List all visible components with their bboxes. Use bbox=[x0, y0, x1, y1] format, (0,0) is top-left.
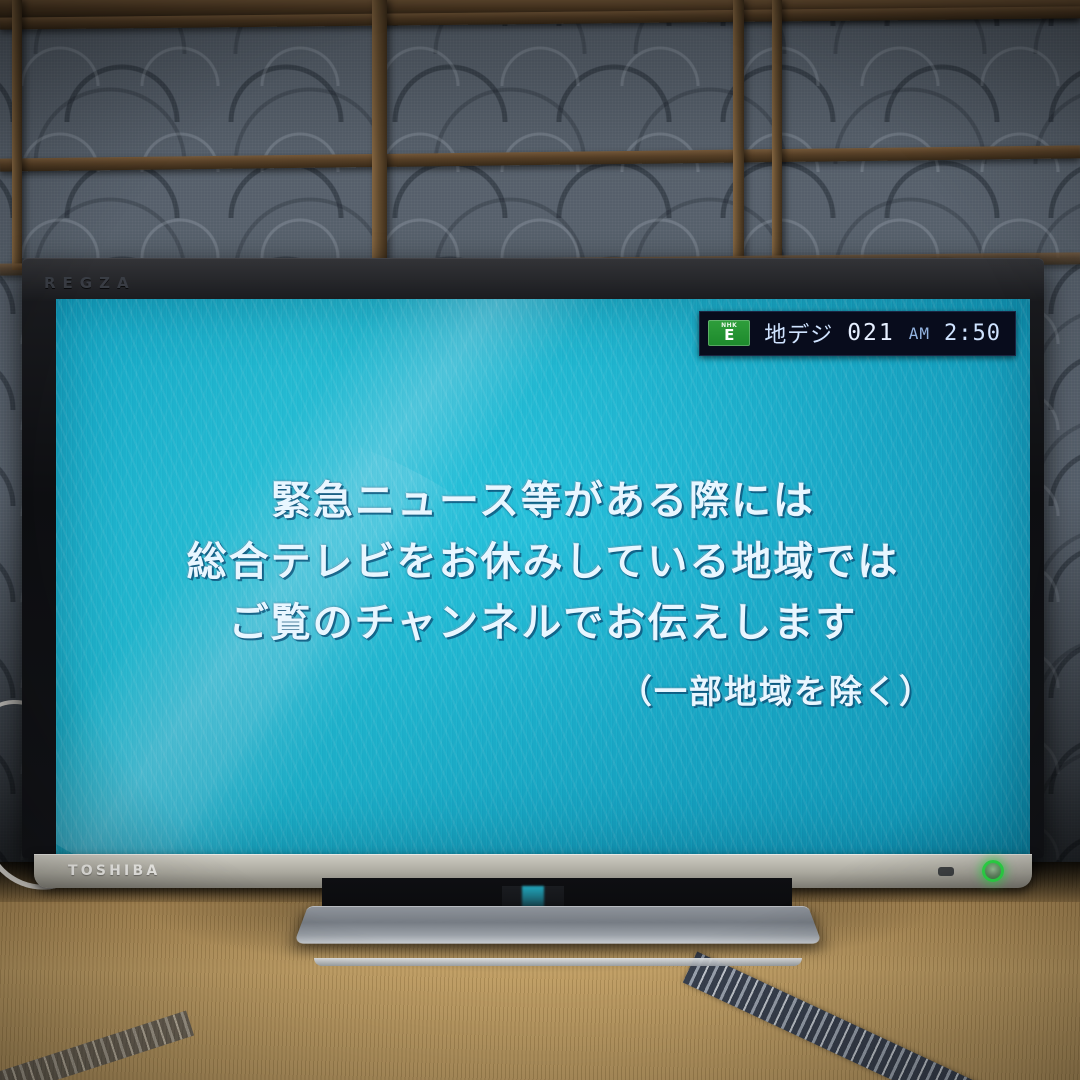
ir-receiver-icon bbox=[938, 867, 954, 876]
tv-stand-base-edge bbox=[314, 958, 802, 966]
message-line-3: ご覧のチャンネルでお伝えします bbox=[56, 593, 1030, 654]
nhk-logo-main-text: E bbox=[724, 328, 734, 343]
broadcast-band-label: 地デジ bbox=[764, 317, 833, 349]
channel-osd-banner: NHK E 地デジ 021 AM 2:50 bbox=[699, 311, 1016, 356]
message-line-1: 緊急ニュース等がある際には bbox=[56, 471, 1030, 532]
regza-logo: REGZA bbox=[44, 274, 136, 292]
standby-message: 緊急ニュース等がある際には 総合テレビをお休みしている地域では ご覧のチャンネル… bbox=[56, 471, 1030, 713]
nhk-e-logo-icon: NHK E bbox=[708, 320, 750, 346]
tv-screen[interactable]: NHK E 地デジ 021 AM 2:50 緊急ニュース等がある際には 総合テレ… bbox=[56, 299, 1030, 855]
television: REGZA NHK E 地デジ 021 AM 2:5 bbox=[22, 258, 1044, 880]
clock-ampm: AM bbox=[909, 324, 930, 343]
clock-time: 2:50 bbox=[944, 321, 1001, 346]
power-indicator-led[interactable] bbox=[982, 860, 1004, 882]
message-note: （一部地域を除く） bbox=[56, 665, 1030, 713]
toshiba-brand-logo: TOSHIBA bbox=[68, 863, 160, 879]
message-line-2: 総合テレビをお休みしている地域では bbox=[56, 532, 1030, 593]
tv-bezel: REGZA NHK E 地デジ 021 AM 2:5 bbox=[22, 258, 1044, 858]
bezel-highlight bbox=[22, 258, 1044, 302]
channel-number: 021 bbox=[847, 320, 895, 346]
photo-scene: REGZA NHK E 地デジ 021 AM 2:5 bbox=[0, 0, 1080, 1080]
tv-stand-base bbox=[294, 906, 822, 944]
